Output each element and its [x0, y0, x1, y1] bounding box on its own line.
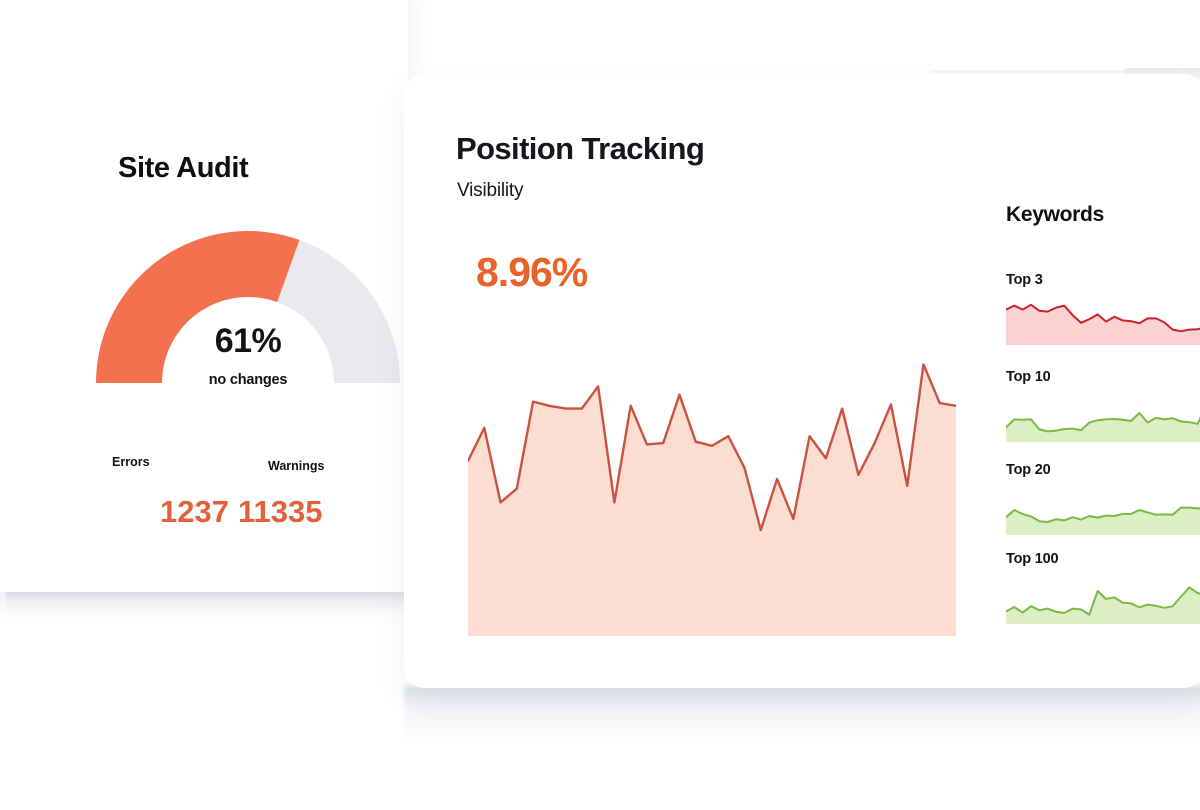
keyword-sparkline: [1006, 392, 1200, 442]
sparkline-fill: [1006, 305, 1200, 345]
keyword-sparkline: [1006, 574, 1200, 624]
visibility-area-fill: [468, 364, 956, 636]
warnings-label: Warnings: [268, 459, 324, 473]
keywords-title: Keywords: [1006, 203, 1104, 227]
keyword-label: Top 3: [1006, 272, 1200, 288]
keyword-row-top-3: Top 3: [1006, 272, 1200, 345]
visibility-area-chart-svg: [468, 344, 956, 636]
dashboard-stage: Site Audit 61% no changes Errors Warning…: [0, 0, 1200, 810]
errors-value: 1237: [160, 494, 229, 529]
keyword-row-top-20: Top 20: [1006, 462, 1200, 535]
site-audit-gauge: [95, 228, 401, 388]
audit-stat-values: 123711335: [160, 494, 322, 530]
position-tracking-card-shadow: [404, 686, 1200, 746]
keyword-label: Top 100: [1006, 551, 1200, 567]
gauge-caption: no changes: [95, 372, 401, 388]
gauge-percent-value: 61%: [95, 322, 401, 361]
position-tracking-title: Position Tracking: [456, 131, 704, 167]
errors-label: Errors: [112, 455, 150, 469]
warnings-value: 11335: [238, 494, 323, 529]
gauge-svg: [95, 228, 401, 388]
visibility-area-chart: [468, 344, 956, 636]
site-audit-title: Site Audit: [118, 152, 248, 185]
position-tracking-subtitle: Visibility: [457, 180, 523, 202]
keyword-label: Top 20: [1006, 462, 1200, 478]
keyword-label: Top 10: [1006, 369, 1200, 385]
keyword-row-top-10: Top 10: [1006, 369, 1200, 442]
keyword-sparkline: [1006, 485, 1200, 535]
visibility-value: 8.96%: [476, 249, 587, 296]
sparkline-fill: [1006, 403, 1200, 442]
keyword-sparkline: [1006, 295, 1200, 345]
keyword-row-top-100: Top 100: [1006, 551, 1200, 624]
